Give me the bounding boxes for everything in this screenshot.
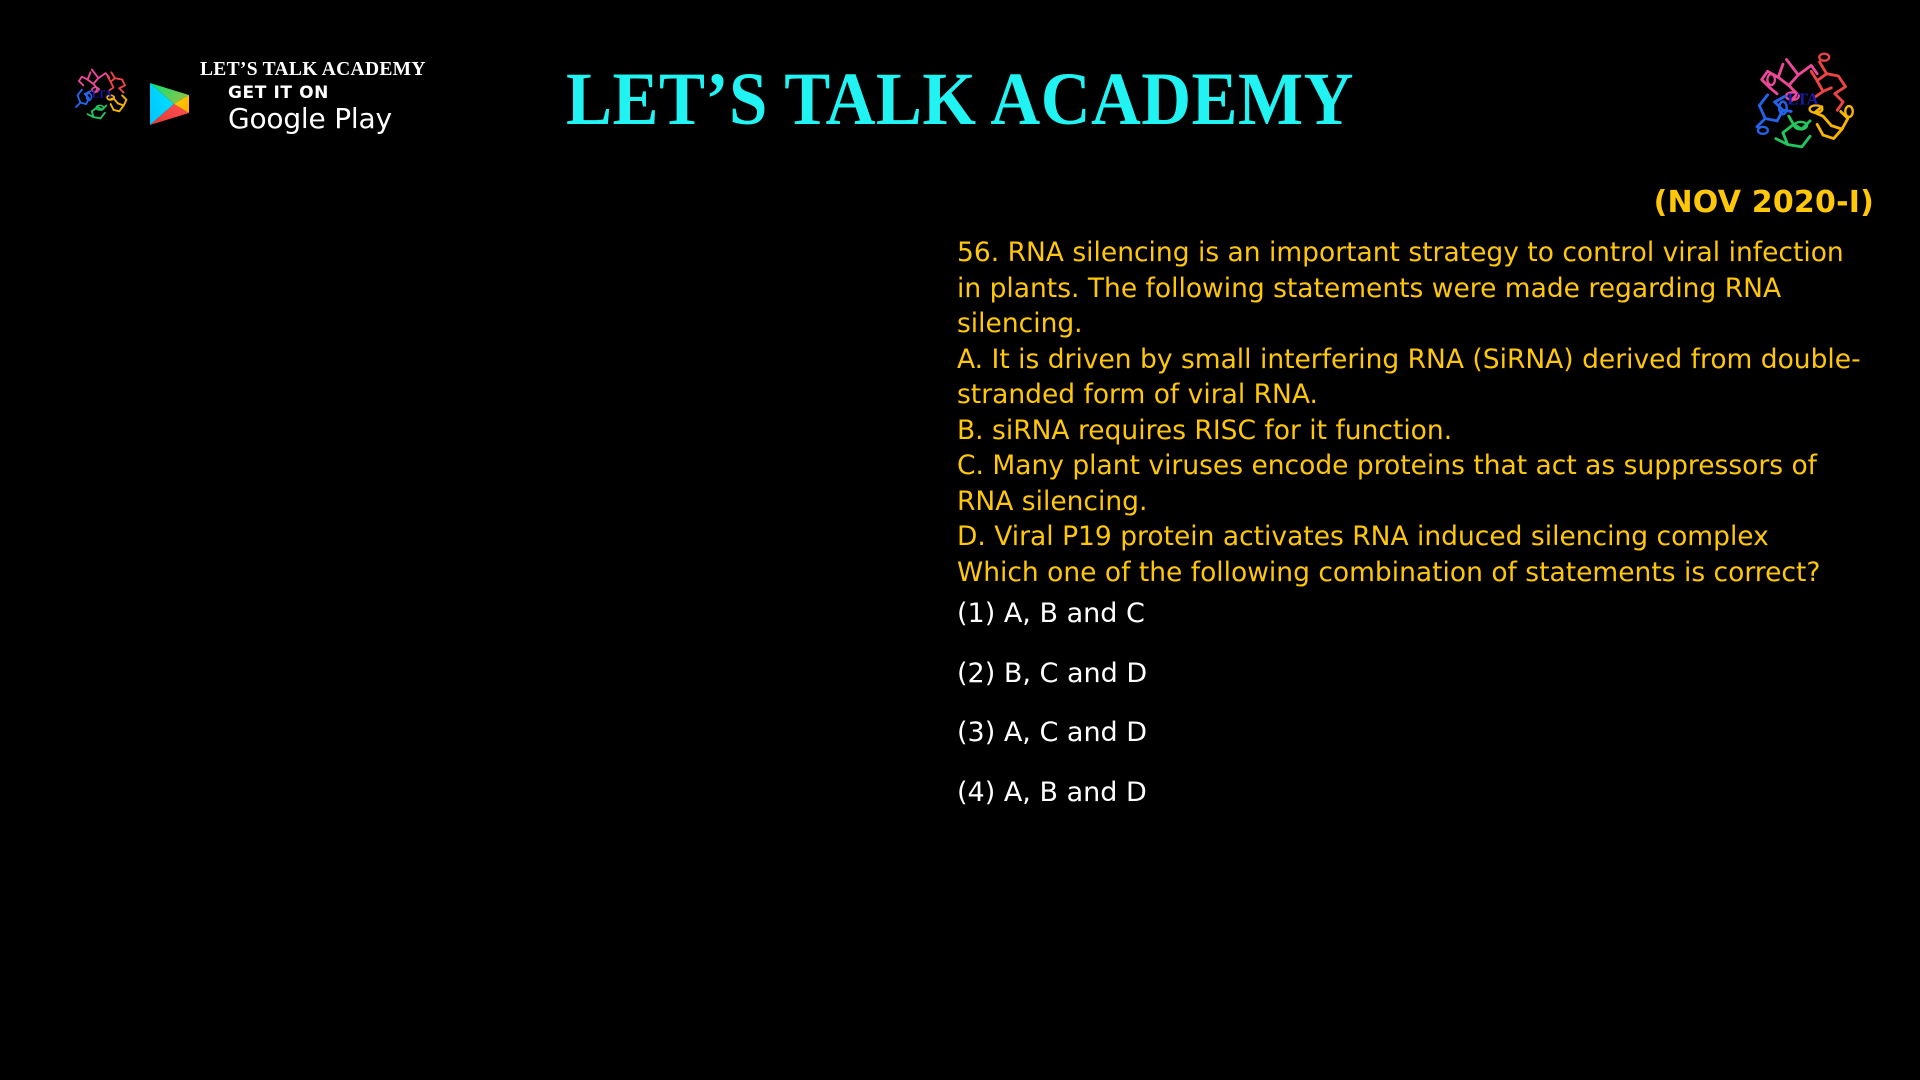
- page-header: LTA: [0, 0, 1920, 175]
- exam-session-badge: (NOV 2020-I): [1654, 185, 1874, 220]
- question-statement-d: D. Viral P19 protein activates RNA induc…: [957, 519, 1872, 555]
- lta-protein-ring-logo: LTA: [1744, 43, 1862, 165]
- answer-option-3[interactable]: (3) A, C and D: [957, 719, 1657, 746]
- answer-option-1[interactable]: (1) A, B and C: [957, 600, 1657, 627]
- question-statement-c: C. Many plant viruses encode proteins th…: [957, 448, 1872, 519]
- question-stem: 56. RNA silencing is an important strate…: [957, 235, 1872, 342]
- question-statement-b: B. siRNA requires RISC for it function.: [957, 413, 1872, 449]
- svg-text:LTA: LTA: [1787, 89, 1818, 108]
- question-statement-a: A. It is driven by small interfering RNA…: [957, 342, 1872, 413]
- answer-option-4[interactable]: (4) A, B and D: [957, 779, 1657, 806]
- answer-options-list: (1) A, B and C (2) B, C and D (3) A, C a…: [957, 600, 1657, 838]
- page-title: LET’S TALK ACADEMY: [77, 62, 1843, 137]
- brand-right-cluster: LTA: [1744, 43, 1862, 165]
- question-prompt: Which one of the following combination o…: [957, 555, 1872, 591]
- answer-option-2[interactable]: (2) B, C and D: [957, 660, 1657, 687]
- question-block: 56. RNA silencing is an important strate…: [957, 235, 1872, 590]
